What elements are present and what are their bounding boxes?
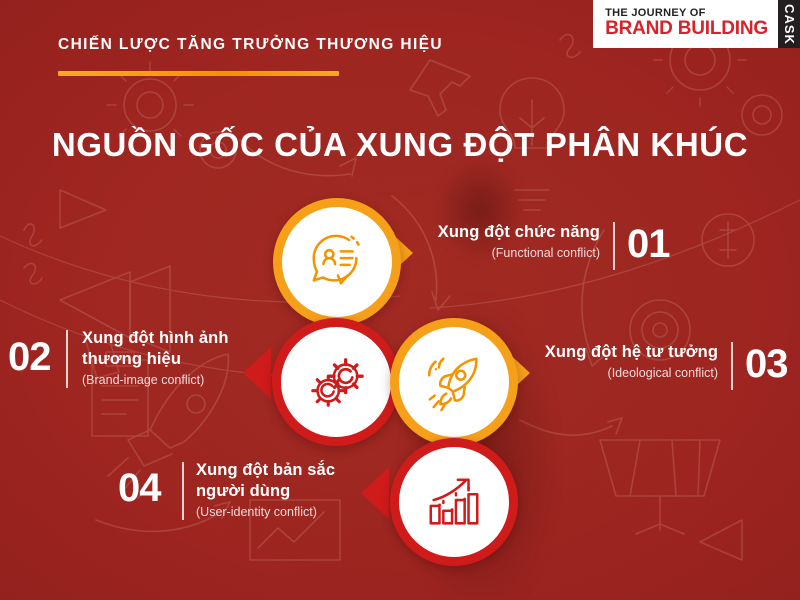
item-3-number: 03 [745, 344, 788, 384]
cask-badge: CASK [778, 0, 800, 48]
label-item-2: Xung đột hình ảnh thương hiệu (Brand-ima… [82, 328, 242, 387]
bar-chart-growth-icon [423, 471, 485, 533]
item-2-subtitle: (Brand-image conflict) [82, 373, 242, 387]
page-title: NGUỒN GỐC CỦA XUNG ĐỘT PHÂN KHÚC [0, 126, 800, 164]
item-4-subtitle: (User-identity conflict) [196, 505, 376, 519]
logo-line-2: BRAND BUILDING [605, 19, 768, 39]
item-1-subtitle: (Functional conflict) [330, 246, 600, 260]
pointer-item-2-icon [243, 347, 271, 399]
item-4-number: 04 [118, 468, 161, 508]
item-3-subtitle: (Ideological conflict) [518, 366, 718, 380]
label-item-3: Xung đột hệ tư tưởng (Ideological confli… [518, 342, 718, 380]
label-item-1: Xung đột chức năng (Functional conflict) [330, 222, 600, 260]
logo-wordmark: THE JOURNEY OF BRAND BUILDING [593, 0, 778, 48]
divider-item-4 [182, 462, 184, 520]
brand-logo: THE JOURNEY OF BRAND BUILDING CASK [593, 0, 800, 48]
node-item-2[interactable] [272, 318, 400, 446]
item-2-number: 02 [8, 337, 51, 377]
kicker-underline [58, 71, 339, 76]
kicker-text: CHIẾN LƯỢC TĂNG TRƯỞNG THƯƠNG HIỆU [58, 36, 443, 54]
divider-item-2 [66, 330, 68, 388]
item-2-title: Xung đột hình ảnh thương hiệu [82, 328, 242, 370]
divider-item-3 [731, 342, 733, 390]
item-1-title: Xung đột chức năng [330, 222, 600, 243]
divider-item-1 [613, 222, 615, 270]
rocket-icon [423, 351, 485, 413]
node-item-3[interactable] [390, 318, 518, 446]
infographic-canvas: THE JOURNEY OF BRAND BUILDING CASK CHIẾN… [0, 0, 800, 600]
node-item-1[interactable] [273, 198, 401, 326]
cask-badge-label: CASK [782, 4, 797, 45]
item-3-title: Xung đột hệ tư tưởng [518, 342, 718, 363]
item-4-title: Xung đột bản sắc người dùng [196, 460, 376, 502]
gears-icon [305, 351, 367, 413]
item-1-number: 01 [627, 224, 670, 264]
node-item-4[interactable] [390, 438, 518, 566]
label-item-4: Xung đột bản sắc người dùng (User-identi… [196, 460, 376, 519]
